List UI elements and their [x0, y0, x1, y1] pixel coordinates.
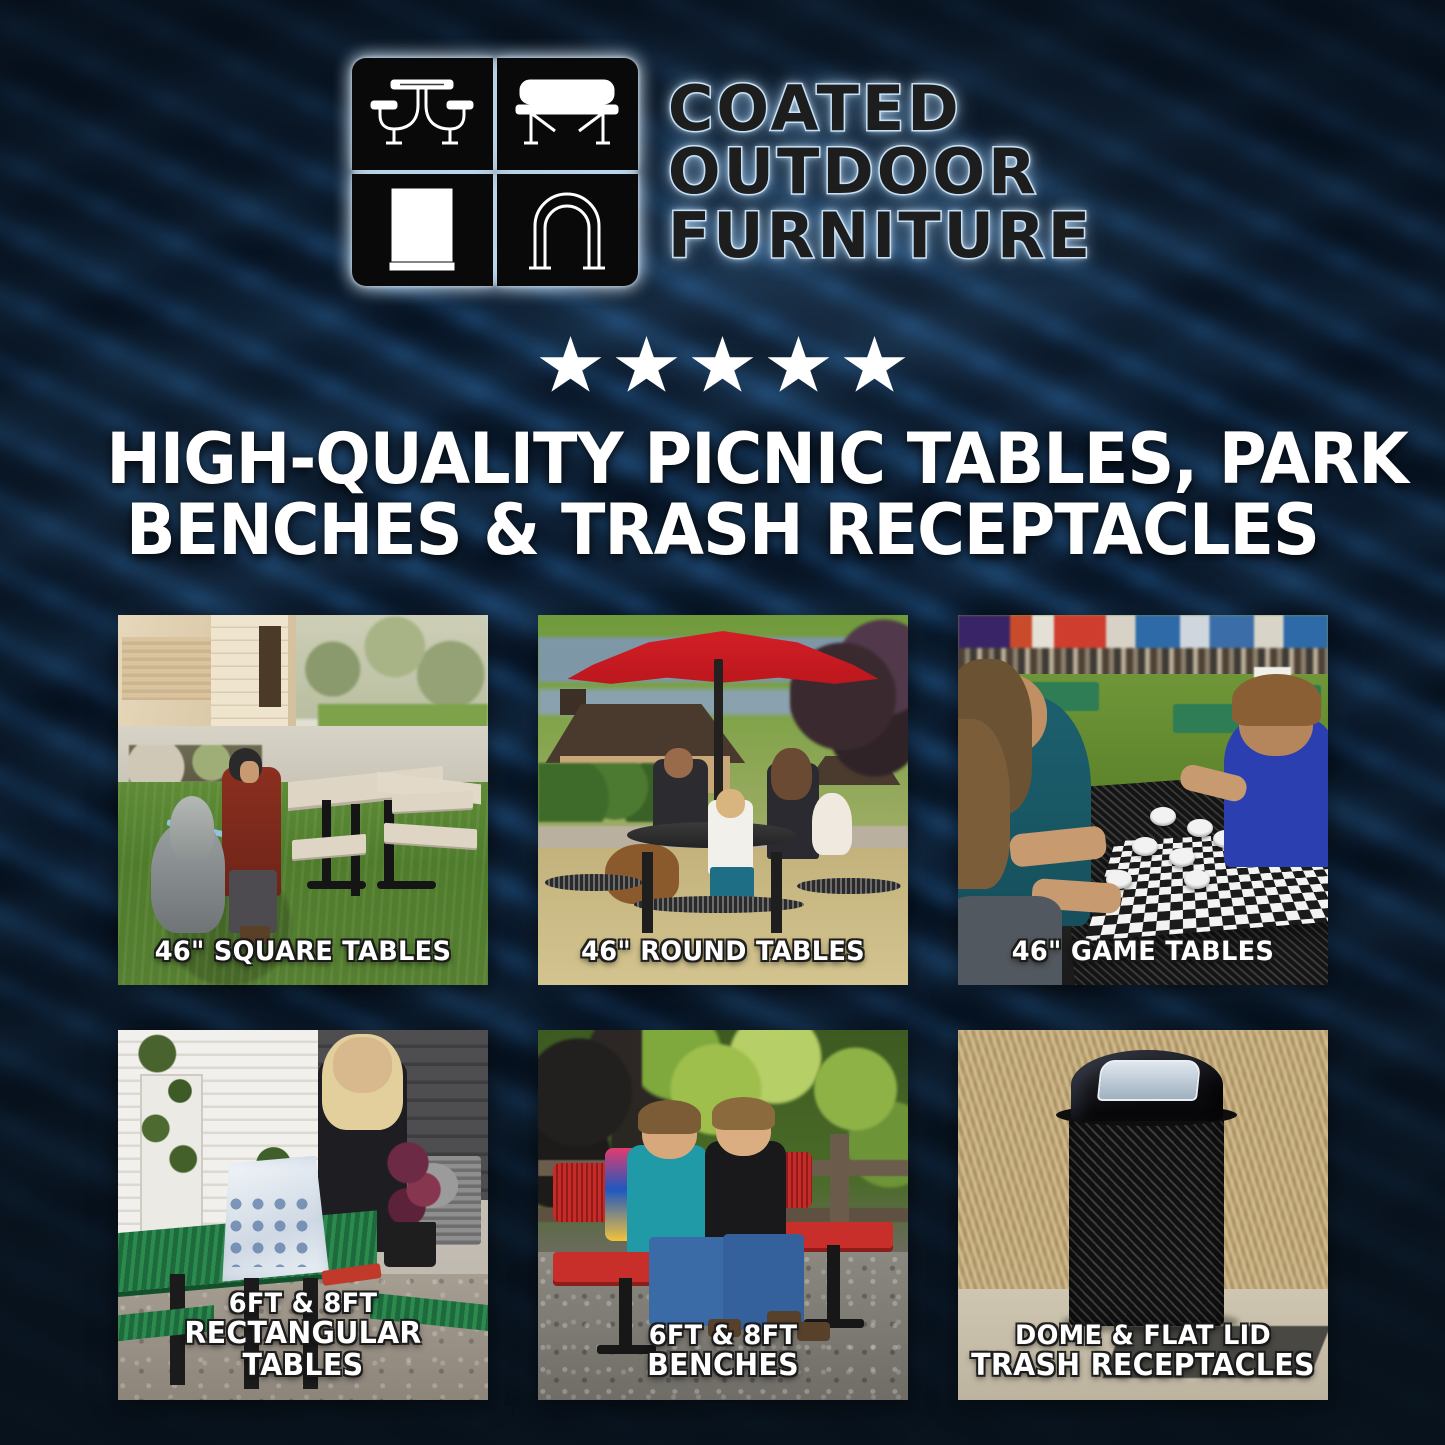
product-tile-square-tables[interactable]: 46" SQUARE TABLES: [118, 615, 488, 985]
star-icon: [768, 336, 830, 396]
product-caption-line-2: BENCHES: [547, 1350, 899, 1382]
product-caption: DOME & FLAT LID TRASH RECEPTACLES: [967, 1322, 1319, 1382]
star-icon: [616, 336, 678, 396]
star-rating: [0, 336, 1445, 396]
product-caption: 46" SQUARE TABLES: [127, 938, 479, 967]
promo-poster: COATED OUTDOOR FURNITURE HIGH-QUALITY PI…: [0, 0, 1445, 1445]
product-caption: 6FT & 8FT BENCHES: [547, 1322, 899, 1382]
brand-line-2: OUTDOOR: [668, 143, 1039, 201]
product-tile-round-tables[interactable]: 46" ROUND TABLES: [538, 615, 908, 985]
product-caption-line-1: 46" GAME TABLES: [1012, 936, 1274, 967]
brand-wordmark: COATED OUTDOOR FURNITURE: [668, 77, 1093, 268]
trash-receptacle-icon: [352, 174, 493, 286]
product-caption: 46" ROUND TABLES: [547, 938, 899, 967]
headline-line-2: BENCHES & TRASH RECEPTACLES: [106, 495, 1338, 566]
headline: HIGH-QUALITY PICNIC TABLES, PARK BENCHES…: [106, 424, 1338, 567]
product-photo-game-tables: [958, 615, 1328, 985]
product-tile-game-tables[interactable]: 46" GAME TABLES: [958, 615, 1328, 985]
product-tile-benches[interactable]: 6FT & 8FT BENCHES: [538, 1030, 908, 1400]
product-tile-rectangular-tables[interactable]: 6FT & 8FT RECTANGULAR TABLES: [118, 1030, 488, 1400]
brand-line-1: COATED: [668, 80, 962, 138]
product-caption-line-1: DOME & FLAT LID: [1015, 1320, 1271, 1351]
product-caption-line-2: TRASH RECEPTACLES: [967, 1350, 1319, 1382]
star-icon: [692, 336, 754, 396]
product-grid: 46" SQUARE TABLES: [118, 615, 1328, 1400]
product-caption-line-2: RECTANGULAR TABLES: [127, 1318, 479, 1382]
product-caption: 46" GAME TABLES: [967, 938, 1319, 967]
logo-mark-grid: [352, 58, 638, 286]
product-tile-trash-receptacles[interactable]: DOME & FLAT LID TRASH RECEPTACLES: [958, 1030, 1328, 1400]
headline-line-1: HIGH-QUALITY PICNIC TABLES, PARK: [106, 424, 1338, 495]
product-caption-line-1: 6FT & 8FT: [649, 1320, 798, 1351]
star-icon: [540, 336, 602, 396]
product-caption: 6FT & 8FT RECTANGULAR TABLES: [127, 1290, 479, 1382]
product-caption-line-1: 46" ROUND TABLES: [581, 936, 865, 967]
brand-logo: COATED OUTDOOR FURNITURE: [0, 58, 1445, 286]
picnic-table-icon: [352, 58, 493, 170]
product-caption-line-1: 6FT & 8FT: [229, 1288, 378, 1319]
star-icon: [844, 336, 906, 396]
brand-line-3: FURNITURE: [668, 207, 1093, 265]
park-bench-icon: [497, 58, 638, 170]
product-photo-round-tables: [538, 615, 908, 985]
product-caption-line-1: 46" SQUARE TABLES: [155, 936, 451, 967]
product-photo-square-tables: [118, 615, 488, 985]
bike-rack-icon: [497, 174, 638, 286]
